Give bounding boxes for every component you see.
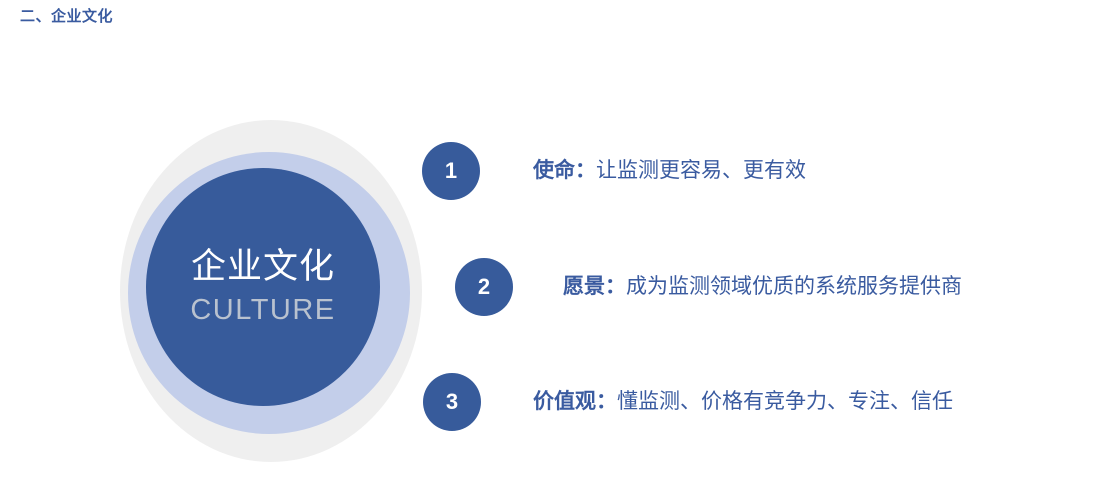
statement-values-label: 价值观： [533,390,617,413]
emblem-label-group: 企业文化 CULTURE [146,168,380,406]
badge-number-1: 1 [422,142,480,200]
badge-number-3: 3 [423,373,481,431]
statement-mission-body: 让监测更容易、更有效 [596,159,806,182]
slide-heading: 二、企业文化 [20,5,113,26]
culture-emblem: 企业文化 CULTURE [120,120,422,462]
statement-values: 价值观：懂监测、价格有竞争力、专注、信任 [533,391,953,412]
statement-vision-label: 愿景： [563,275,626,298]
emblem-title-en: CULTURE [190,296,335,325]
statement-mission: 使命：让监测更容易、更有效 [533,160,806,181]
statement-values-body: 懂监测、价格有竞争力、专注、信任 [617,390,953,413]
statement-vision: 愿景：成为监测领域优质的系统服务提供商 [563,276,962,297]
statement-mission-label: 使命： [533,159,596,182]
badge-number-2: 2 [455,258,513,316]
emblem-title-cn: 企业文化 [191,249,335,284]
statement-vision-body: 成为监测领域优质的系统服务提供商 [626,275,962,298]
